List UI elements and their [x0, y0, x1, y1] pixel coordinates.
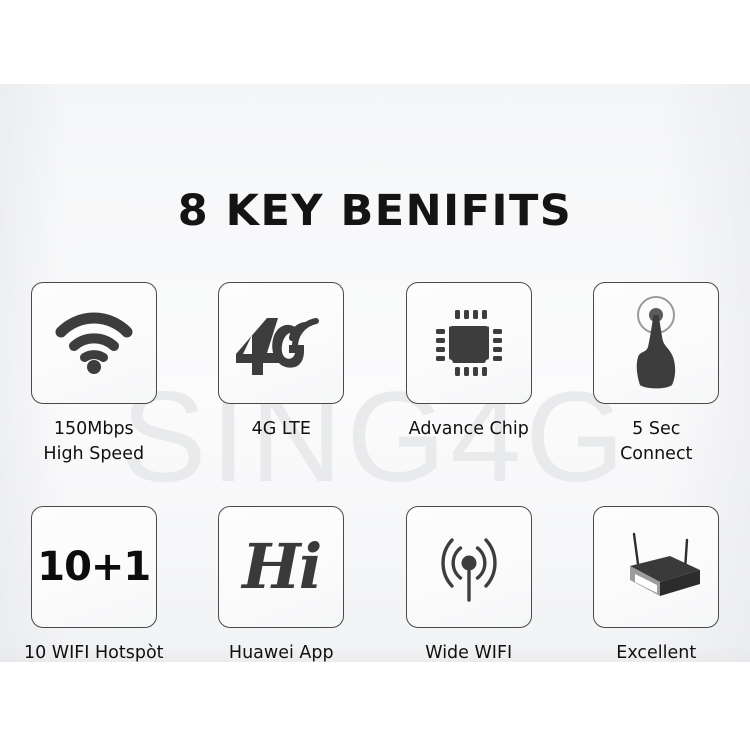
benefit-label: Advance Chip: [409, 417, 529, 442]
benefit-label: Excellent 4G receiver: [606, 641, 707, 662]
benefit-label: 5 Sec Connect: [620, 417, 692, 467]
benefit-icon-tile[interactable]: [406, 506, 532, 628]
benefits-row-1: 150Mbps High Speed: [0, 282, 750, 467]
benefit-label-line-2: High Speed: [43, 442, 144, 467]
benefit-icon-tile[interactable]: [593, 282, 719, 404]
benefit-label: Wide WIFI Range: [425, 641, 512, 662]
benefit-icon-tile[interactable]: [406, 282, 532, 404]
benefit-label-line-1: 5 Sec: [632, 419, 680, 439]
benefit-label: 4G LTE: [252, 417, 311, 442]
content-panel: SING4G 8 KEY BENIFITS: [0, 84, 750, 662]
text-badge-icon: 10+1: [37, 544, 150, 590]
benefit-label: 150Mbps High Speed: [43, 417, 144, 467]
benefit-icon-tile[interactable]: 10+1: [31, 506, 157, 628]
benefit-item[interactable]: Wide WIFI Range: [375, 506, 563, 662]
benefit-icon-tile[interactable]: [218, 282, 344, 404]
benefit-item[interactable]: Advance Chip: [375, 282, 563, 467]
benefit-item[interactable]: 5 Sec Connect: [563, 282, 750, 467]
benefit-item[interactable]: Hi Huawei App Support: [188, 506, 376, 662]
antenna-broadcast-icon: [426, 524, 512, 610]
page-title: 8 KEY BENIFITS: [0, 186, 750, 236]
benefit-label-line-1: Huawei App: [229, 643, 334, 662]
infographic-canvas: SING4G 8 KEY BENIFITS: [0, 0, 750, 750]
tap-finger-icon: [618, 295, 694, 391]
benefit-item[interactable]: 150Mbps High Speed: [0, 282, 188, 467]
benefit-label: Huawei App Support: [229, 641, 334, 662]
benefit-label-line-1: Advance Chip: [409, 419, 529, 439]
benefit-icon-tile[interactable]: [31, 282, 157, 404]
microchip-icon: [430, 304, 508, 382]
benefit-label-line-1: 10 WIFI Hotspòt: [24, 643, 164, 662]
4g-signal-icon: [235, 305, 327, 381]
benefit-label-line-1: 150Mbps: [54, 419, 134, 439]
benefit-item[interactable]: 4G LTE: [188, 282, 376, 467]
benefit-label: 10 WIFI Hotspòt 1 direct PC: [24, 641, 164, 662]
benefit-item[interactable]: Excellent 4G receiver: [563, 506, 750, 662]
benefit-label-line-2: Connect: [620, 442, 692, 467]
benefit-icon-tile[interactable]: [593, 506, 719, 628]
benefit-label-line-1: Excellent: [616, 643, 696, 662]
benefits-row-2: 10+1 10 WIFI Hotspòt 1 direct PC Hi Huaw…: [0, 506, 750, 662]
wifi-router-icon: [604, 524, 708, 610]
wifi-signal-icon: [55, 312, 133, 374]
benefit-icon-tile[interactable]: Hi: [218, 506, 344, 628]
benefit-label-line-1: 4G LTE: [252, 419, 311, 439]
benefit-label-line-1: Wide WIFI: [425, 643, 512, 662]
huawei-hi-icon: Hi: [242, 536, 320, 598]
benefit-item[interactable]: 10+1 10 WIFI Hotspòt 1 direct PC: [0, 506, 188, 662]
